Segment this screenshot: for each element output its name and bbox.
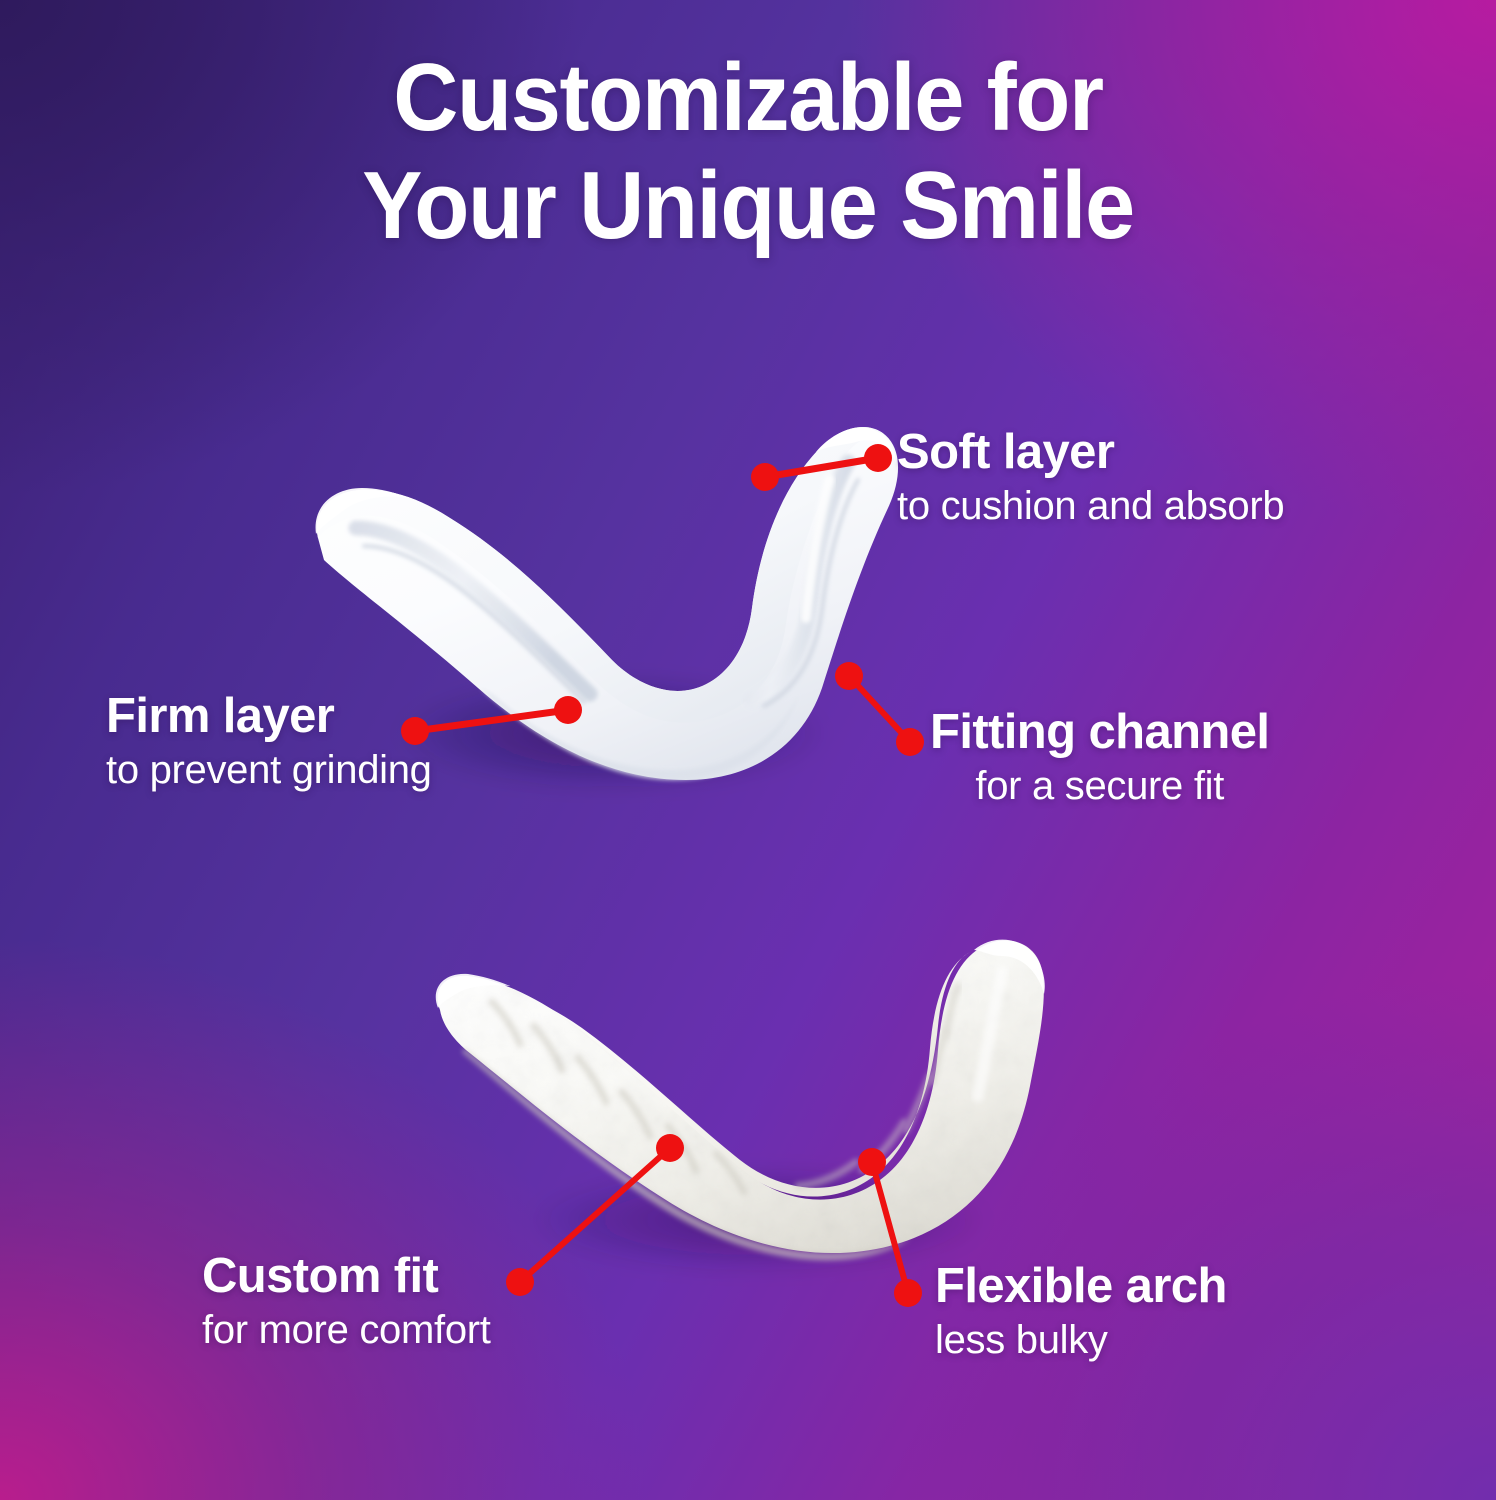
callout-label-flexible-arch: Flexible arch less bulky xyxy=(935,1262,1227,1363)
callout-label-fitting-channel: Fitting channel for a secure fit xyxy=(930,708,1269,809)
callout-title-fitting-channel: Fitting channel xyxy=(930,708,1269,758)
infographic-canvas: Customizable for Your Unique Smile xyxy=(0,0,1496,1500)
callout-label-firm-layer: Firm layer to prevent grinding xyxy=(106,692,432,793)
page-title-line-2: Your Unique Smile xyxy=(45,152,1451,260)
callout-title-flexible-arch: Flexible arch xyxy=(935,1262,1227,1312)
callout-label-soft-layer: Soft layer to cushion and absorb xyxy=(897,428,1284,529)
callout-subtitle-custom-fit: for more comfort xyxy=(202,1308,491,1353)
callout-subtitle-firm-layer: to prevent grinding xyxy=(106,748,432,793)
page-title: Customizable for Your Unique Smile xyxy=(45,44,1451,259)
page-title-line-1: Customizable for xyxy=(45,44,1451,152)
callout-subtitle-flexible-arch: less bulky xyxy=(935,1318,1227,1363)
product-image-mouthguard-molded xyxy=(418,890,1078,1290)
product-surface-texture xyxy=(438,940,1044,1253)
callout-title-soft-layer: Soft layer xyxy=(897,428,1284,478)
callout-title-custom-fit: Custom fit xyxy=(202,1252,491,1302)
callout-title-firm-layer: Firm layer xyxy=(106,692,432,742)
callout-subtitle-soft-layer: to cushion and absorb xyxy=(897,484,1284,529)
callout-label-custom-fit: Custom fit for more comfort xyxy=(202,1252,491,1353)
callout-subtitle-fitting-channel: for a secure fit xyxy=(930,764,1269,809)
